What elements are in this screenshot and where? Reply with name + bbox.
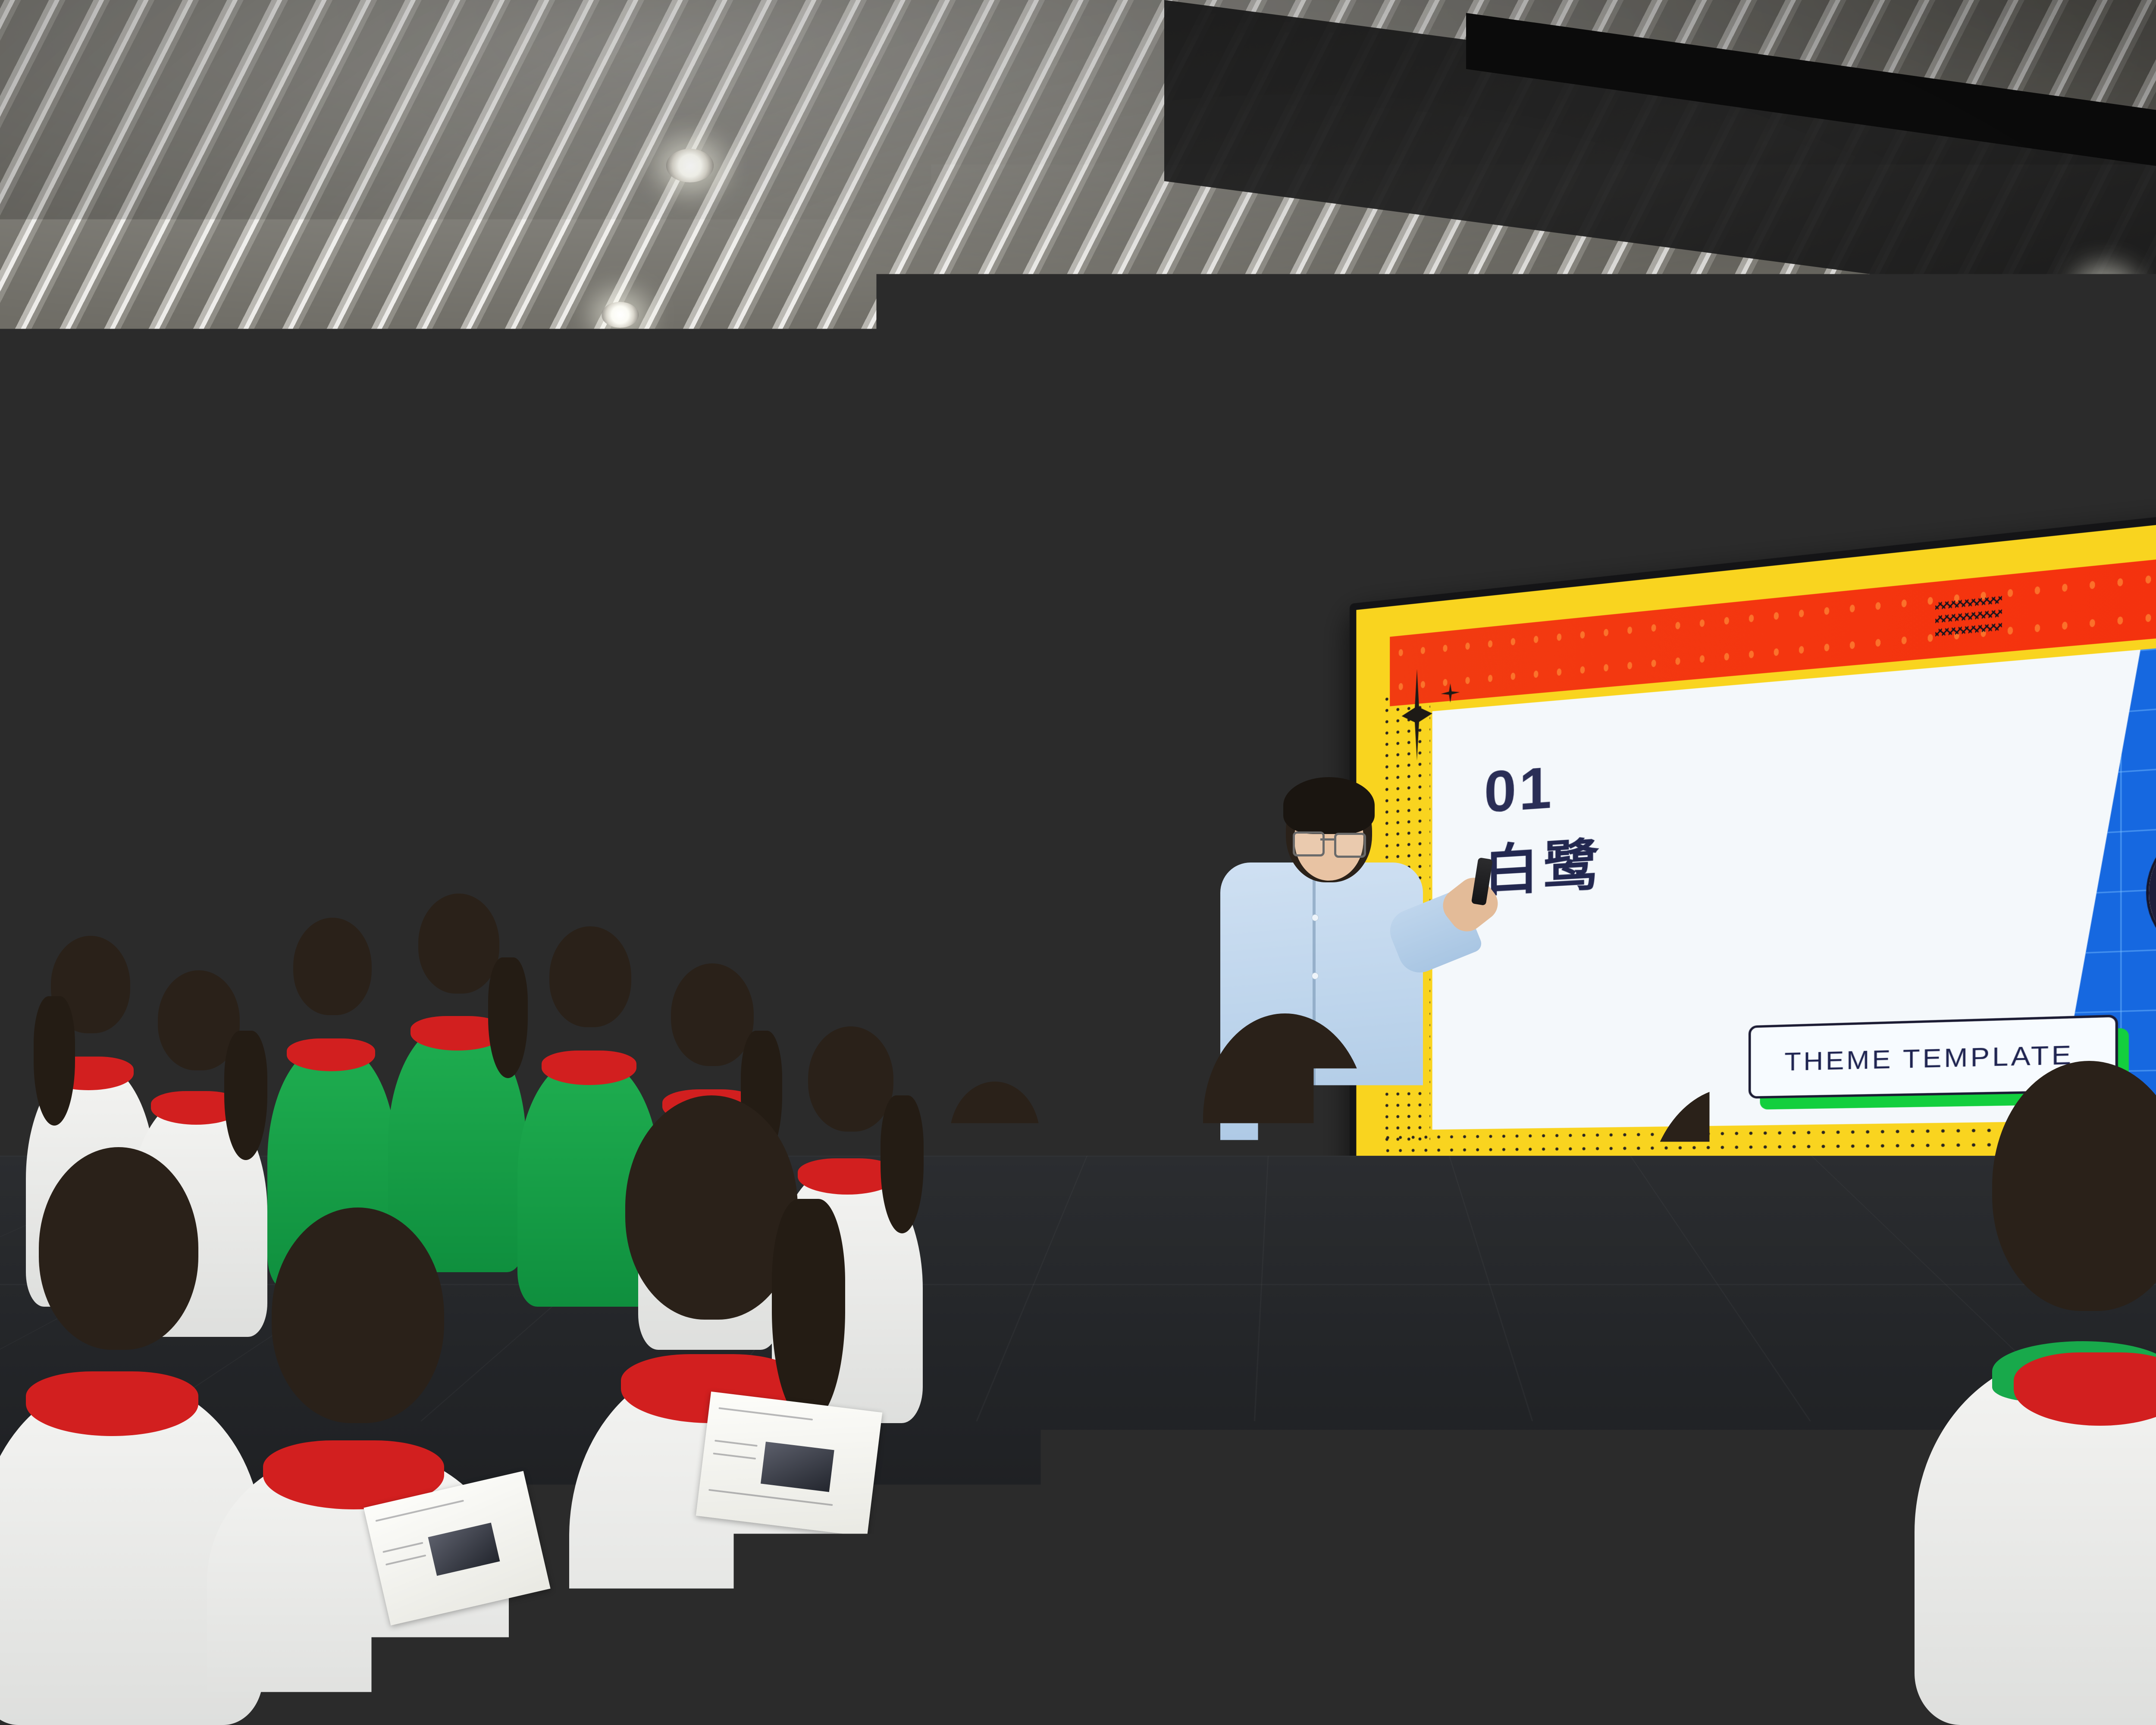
worksheet-text-line: [1362, 1355, 1490, 1377]
glasses-lens-left: [1293, 831, 1325, 856]
ceiling-downlight: [602, 302, 639, 328]
plaque-national-engineering-laboratory: 农产品质量安全追溯技术及应用 国家工程实验室 National Engineer…: [1436, 476, 1574, 585]
worksheet-text-line: [1351, 1292, 1432, 1307]
university-crest-icon: [854, 759, 890, 796]
worksheet-text-line: [1357, 1333, 1404, 1342]
shirt-button: [1312, 914, 1319, 921]
red-scarf: [931, 1397, 1112, 1466]
student-ponytail: [772, 1199, 845, 1423]
window-mullion-horizontal: [207, 658, 539, 673]
student-head: [1203, 1013, 1367, 1225]
emergency-exit-sign: 安全出口 EXIT: [390, 561, 477, 594]
handout-worksheet[interactable]: [1836, 1386, 2001, 1516]
student-ponytail: [1082, 1238, 1156, 1471]
student-head: [671, 963, 754, 1066]
zigzag-decoration: [1935, 593, 2002, 642]
red-scarf: [542, 1051, 636, 1085]
red-scarf: [287, 1038, 375, 1071]
student-foreground: [1035, 1475, 1354, 1725]
worksheet-text-line: [1349, 1277, 1447, 1294]
plaque-main-title: 北京市重点实验室: [1611, 487, 1740, 512]
worksheet-image: [761, 1442, 834, 1492]
glasses-lens-left: [144, 858, 170, 878]
worksheet-text-line: [713, 1452, 756, 1459]
worksheet-text-line: [718, 1407, 813, 1421]
glasses-lens-right: [1334, 833, 1366, 858]
student-foreground: [1574, 1087, 1876, 1725]
slide-section-title: 白鹭: [1484, 819, 1603, 906]
adult-face: [13, 827, 66, 888]
shirt-button: [1312, 972, 1319, 979]
student-head: [549, 926, 631, 1027]
worksheet-text-line: [382, 1542, 423, 1552]
exit-sign-english-label: EXIT: [449, 572, 472, 583]
worksheet-text-line: [1849, 1440, 1889, 1446]
adult-glasses: [144, 858, 205, 875]
presenter-glasses: [1293, 831, 1369, 853]
worksheet-text-line: [376, 1500, 464, 1522]
worksheet-text-line: [1846, 1405, 1933, 1414]
student-ponytail: [34, 996, 75, 1126]
plaque-main-title: 市级校外人才培养基地: [1959, 463, 2156, 501]
plaque-top-line: 农产品质量安全追溯技术及应用: [1441, 482, 1569, 497]
student-foreground: [207, 1199, 509, 1725]
student-head: [39, 1147, 198, 1350]
worksheet-text-line: [708, 1489, 833, 1506]
student-ponytail: [224, 1031, 267, 1160]
red-scarf: [1660, 1351, 1811, 1415]
window-mullion-horizontal: [0, 608, 699, 618]
ceiling-downlight: [2083, 276, 2128, 307]
handout-worksheet[interactable]: [696, 1392, 882, 1537]
plaque-issuing-org: 北京市科学技术委员会: [1611, 526, 1740, 539]
plaque-main-title: 国家工程实验室: [1441, 495, 1569, 519]
student-head: [272, 1207, 444, 1423]
worksheet-text-line: [714, 1440, 758, 1447]
ceiling-downlight: [666, 149, 714, 182]
plaque-issuing-org: 中华人民共和国国家发展和改革委员会: [1441, 534, 1569, 546]
running-man-icon: [428, 568, 446, 586]
worksheet-text-line: [385, 1555, 426, 1565]
scene-photograph: 安全出口 EXIT 农产品质量安全追溯技术及应用 国家工程实验室 Nationa…: [0, 0, 2156, 1725]
student-head: [293, 918, 372, 1015]
exit-sign-chinese-label: 安全出口: [395, 572, 425, 583]
student-head: [418, 894, 499, 994]
student-head: [1647, 1087, 1824, 1315]
window-mullion-horizontal: [0, 423, 699, 430]
glasses-bridge: [1320, 838, 1335, 841]
banner-college-subtitle-cn: （网络空间安全学院）: [761, 876, 1132, 921]
worksheet-image: [428, 1523, 500, 1576]
plaque-top-line: 北京市高等学校: [1959, 439, 2156, 465]
worksheet-text-line: [1850, 1453, 1890, 1458]
student-head: [1992, 1061, 2156, 1311]
red-scarf: [26, 1371, 198, 1436]
plaque-beijing-key-laboratory: 食品安全大数据技术 北京市重点实验室 Beijing Key Laborator…: [1606, 469, 1744, 577]
student-head: [1091, 1475, 1294, 1725]
presenter-hair: [1283, 777, 1375, 834]
glasses-lens-right: [177, 859, 204, 878]
worksheet-image: [1407, 1305, 1482, 1358]
slide-section-number: 01: [1484, 753, 1554, 825]
worksheet-image: [1896, 1431, 1959, 1474]
worksheet-text-line: [1355, 1320, 1402, 1330]
university-banner-board: 北京工商大学 Beijing Technology and Business U…: [729, 703, 1160, 1013]
